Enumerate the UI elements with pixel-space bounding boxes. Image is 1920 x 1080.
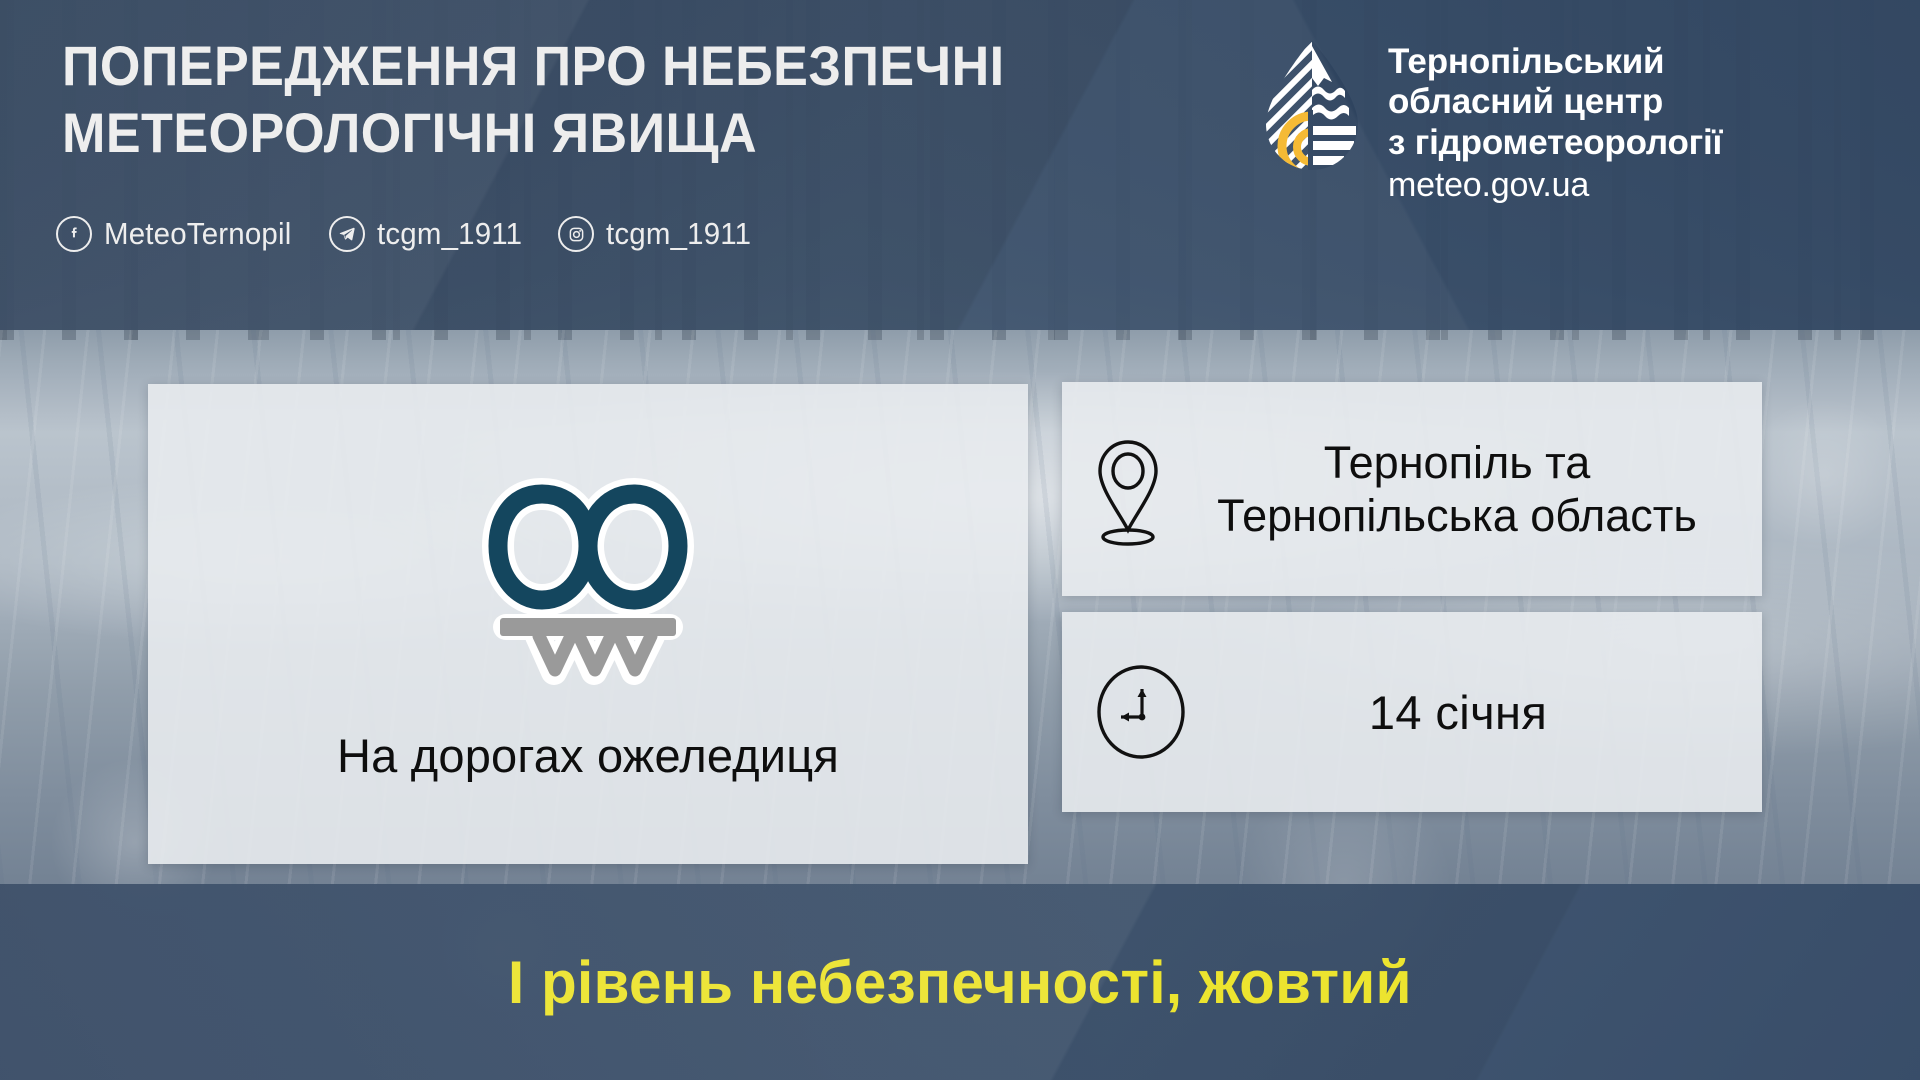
- page-title: ПОПЕРЕДЖЕННЯ ПРО НЕБЕЗПЕЧНІ МЕТЕОРОЛОГІЧ…: [62, 32, 1178, 166]
- logo-website-url[interactable]: meteo.gov.ua: [1388, 165, 1722, 206]
- logo-line-2: обласний центр: [1388, 82, 1722, 122]
- date-label: 14 січня: [1182, 685, 1734, 740]
- danger-level-label: І рівень небезпечності, жовтий: [508, 948, 1412, 1017]
- logo-text-block: Тернопільський обласний центр з гідромет…: [1388, 42, 1722, 206]
- weather-warning-poster: ПОПЕРЕДЖЕННЯ ПРО НЕБЕЗПЕЧНІ МЕТЕОРОЛОГІЧ…: [0, 0, 1920, 1080]
- telegram-icon: [329, 216, 365, 252]
- footer-band: І рівень небезпечності, жовтий: [0, 884, 1920, 1080]
- logo-line-3: з гідрометеорології: [1388, 123, 1722, 163]
- phenomenon-card: На дорогах ожеледиця: [148, 384, 1028, 864]
- header-band: ПОПЕРЕДЖЕННЯ ПРО НЕБЕЗПЕЧНІ МЕТЕОРОЛОГІЧ…: [0, 0, 1920, 330]
- instagram-icon: [558, 216, 594, 252]
- clock-icon: [1090, 661, 1192, 763]
- map-pin-icon: [1090, 434, 1166, 550]
- social-handle-telegram: tcgm_1911: [377, 216, 522, 252]
- social-links-row: MeteoTernopil tcgm_1911: [56, 216, 787, 252]
- organization-logo: Тернопільський обласний центр з гідромет…: [1258, 38, 1722, 206]
- region-card: Тернопіль та Тернопільська область: [1062, 382, 1762, 596]
- social-handle-instagram: tcgm_1911: [606, 216, 751, 252]
- phenomenon-label: На дорогах ожеледиця: [337, 728, 839, 783]
- social-link-telegram[interactable]: tcgm_1911: [329, 216, 530, 252]
- black-ice-on-roads-icon: [438, 460, 738, 710]
- social-link-facebook[interactable]: MeteoTernopil: [56, 216, 301, 252]
- droplet-hydromet-logo-icon: [1258, 38, 1366, 170]
- social-link-instagram[interactable]: tcgm_1911: [558, 216, 759, 252]
- facebook-icon: [56, 216, 92, 252]
- date-card: 14 січня: [1062, 612, 1762, 812]
- social-handle-facebook: MeteoTernopil: [104, 216, 291, 252]
- logo-line-1: Тернопільський: [1388, 42, 1722, 82]
- region-label: Тернопіль та Тернопільська область: [1166, 436, 1748, 542]
